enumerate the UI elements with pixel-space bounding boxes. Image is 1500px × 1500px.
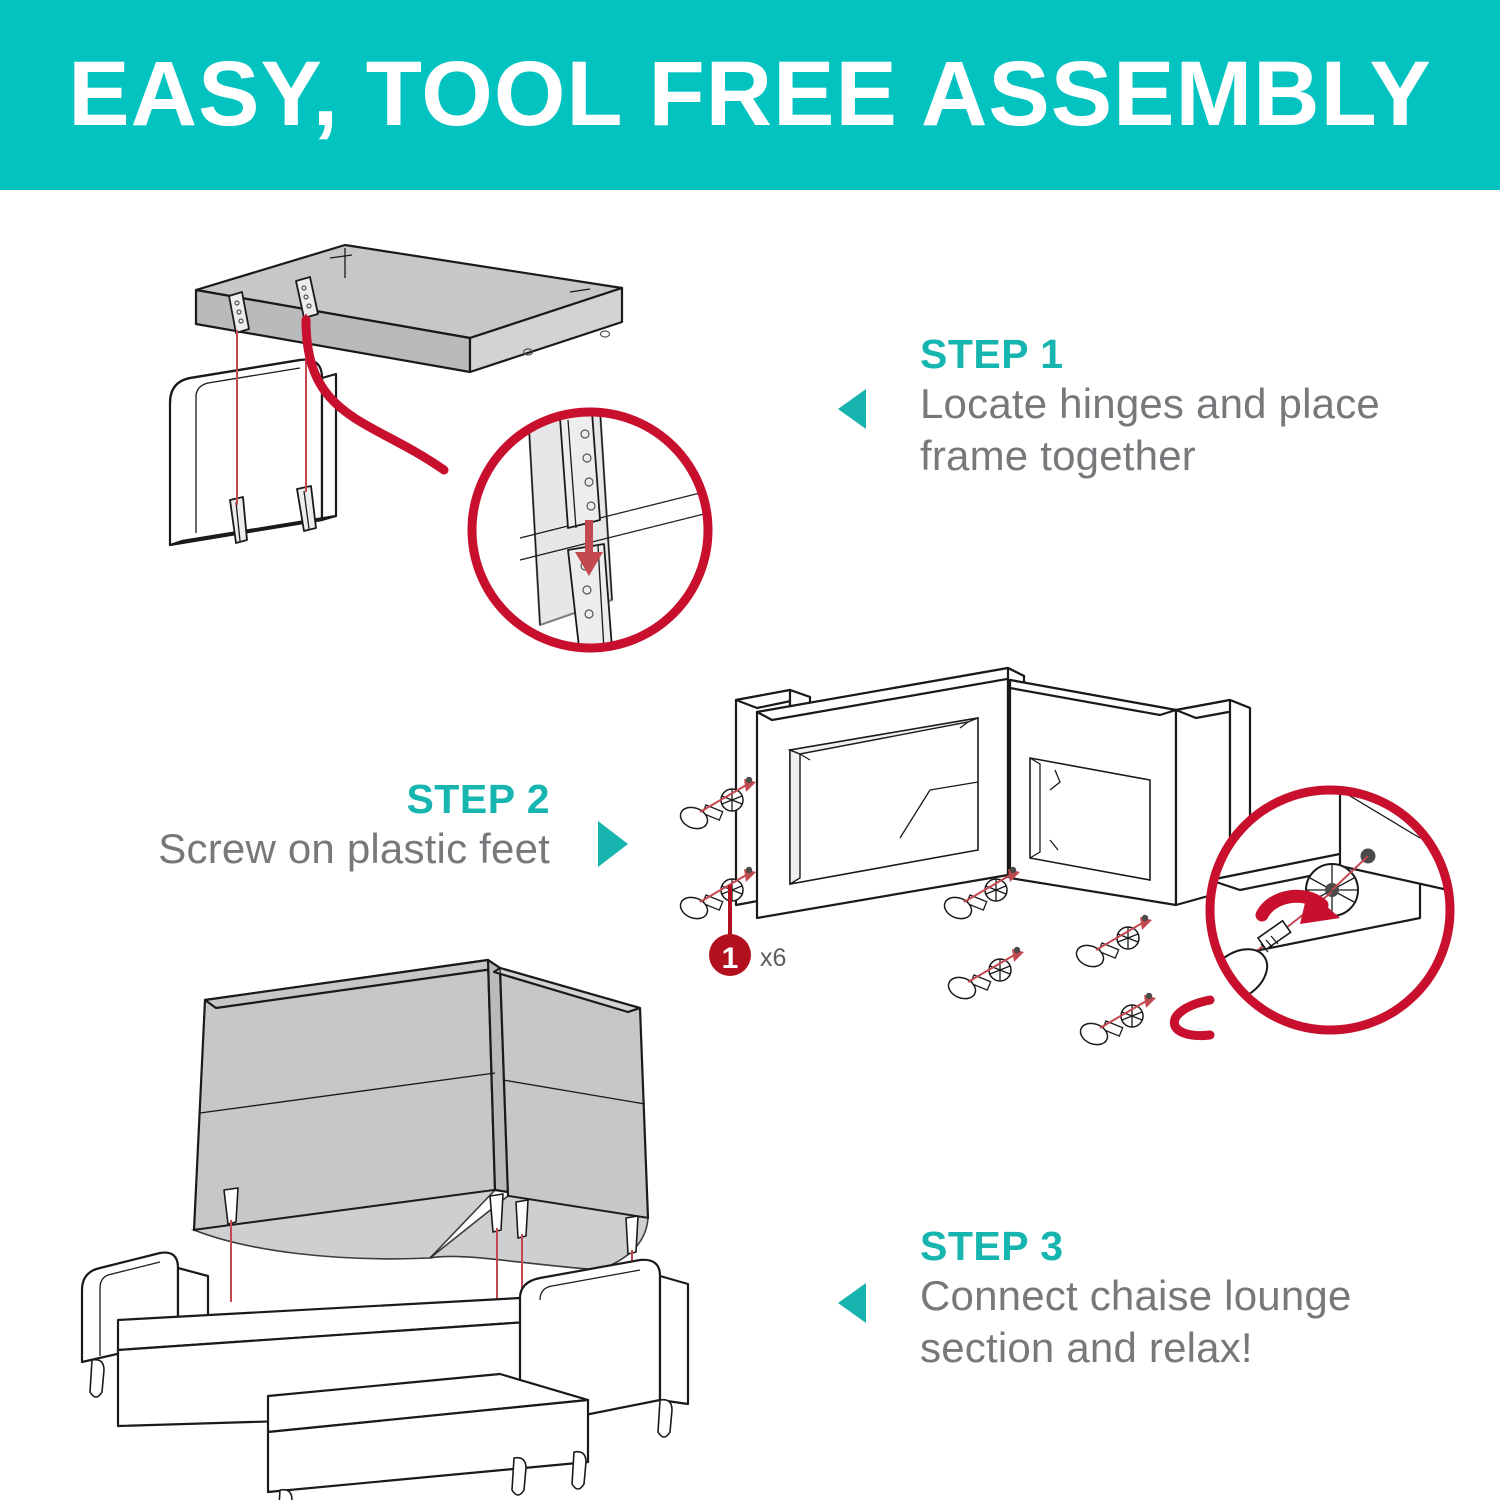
hinge-bracket [224,1188,638,1254]
hinge-bracket [229,277,318,333]
triangle-left-icon [838,389,866,429]
backrest-assembly [194,960,648,1270]
step-2-body-line-1: Screw on plastic feet [100,823,550,875]
seat-frame-box [196,245,622,372]
badge-quantity: x6 [760,944,786,972]
hinge-detail-magnifier-content [470,410,712,656]
foot-screw-detail-magnifier-ring [1210,790,1450,1030]
hinge-bracket [230,486,316,543]
step-1-heading: STEP 1 [920,330,1440,378]
badge-number: 1 [722,942,739,975]
part-badge [709,934,751,976]
step-1-text-block: STEP 1 Locate hinges and place frame tog… [920,330,1440,482]
step-1-body-line-2: frame together [920,430,1440,482]
step-2-text-block: STEP 2 Screw on plastic feet [100,775,550,875]
step-1-body-line-1: Locate hinges and place [920,378,1440,430]
plastic-foot [90,1360,672,1500]
sofa-frame [736,668,1250,918]
page-title: EASY, TOOL FREE ASSEMBLY [0,44,1500,144]
header-banner: EASY, TOOL FREE ASSEMBLY [0,0,1500,190]
step2-illustration: 1 x6 [677,668,1470,1050]
down-insert-arrow [575,520,603,576]
sofa-base [82,1253,688,1492]
infographic-page: EASY, TOOL FREE ASSEMBLY .ln{fill:none;s… [0,0,1500,1500]
plastic-foot-screw [677,777,1156,1049]
back-panel [170,360,336,545]
hinge-detail-magnifier-ring [472,412,708,648]
step-3-body-line-2: section and relax! [920,1322,1420,1374]
triangle-right-icon [598,821,628,867]
step-3-body-line-1: Connect chaise lounge [920,1270,1420,1322]
magnifier-leader-line [1174,1000,1210,1036]
step1-illustration [170,245,712,656]
foot-screw-detail-magnifier-content [1199,780,1470,1050]
magnifier-leader-line [306,320,444,470]
step-3-heading: STEP 3 [920,1222,1420,1270]
alignment-guide-line [231,1220,632,1342]
rotate-arrow [1262,890,1340,924]
step3-illustration [82,960,688,1500]
step-2-heading: STEP 2 [100,775,550,823]
step-3-text-block: STEP 3 Connect chaise lounge section and… [920,1222,1420,1374]
alignment-guide-line [237,314,306,505]
triangle-left-icon [838,1283,866,1323]
